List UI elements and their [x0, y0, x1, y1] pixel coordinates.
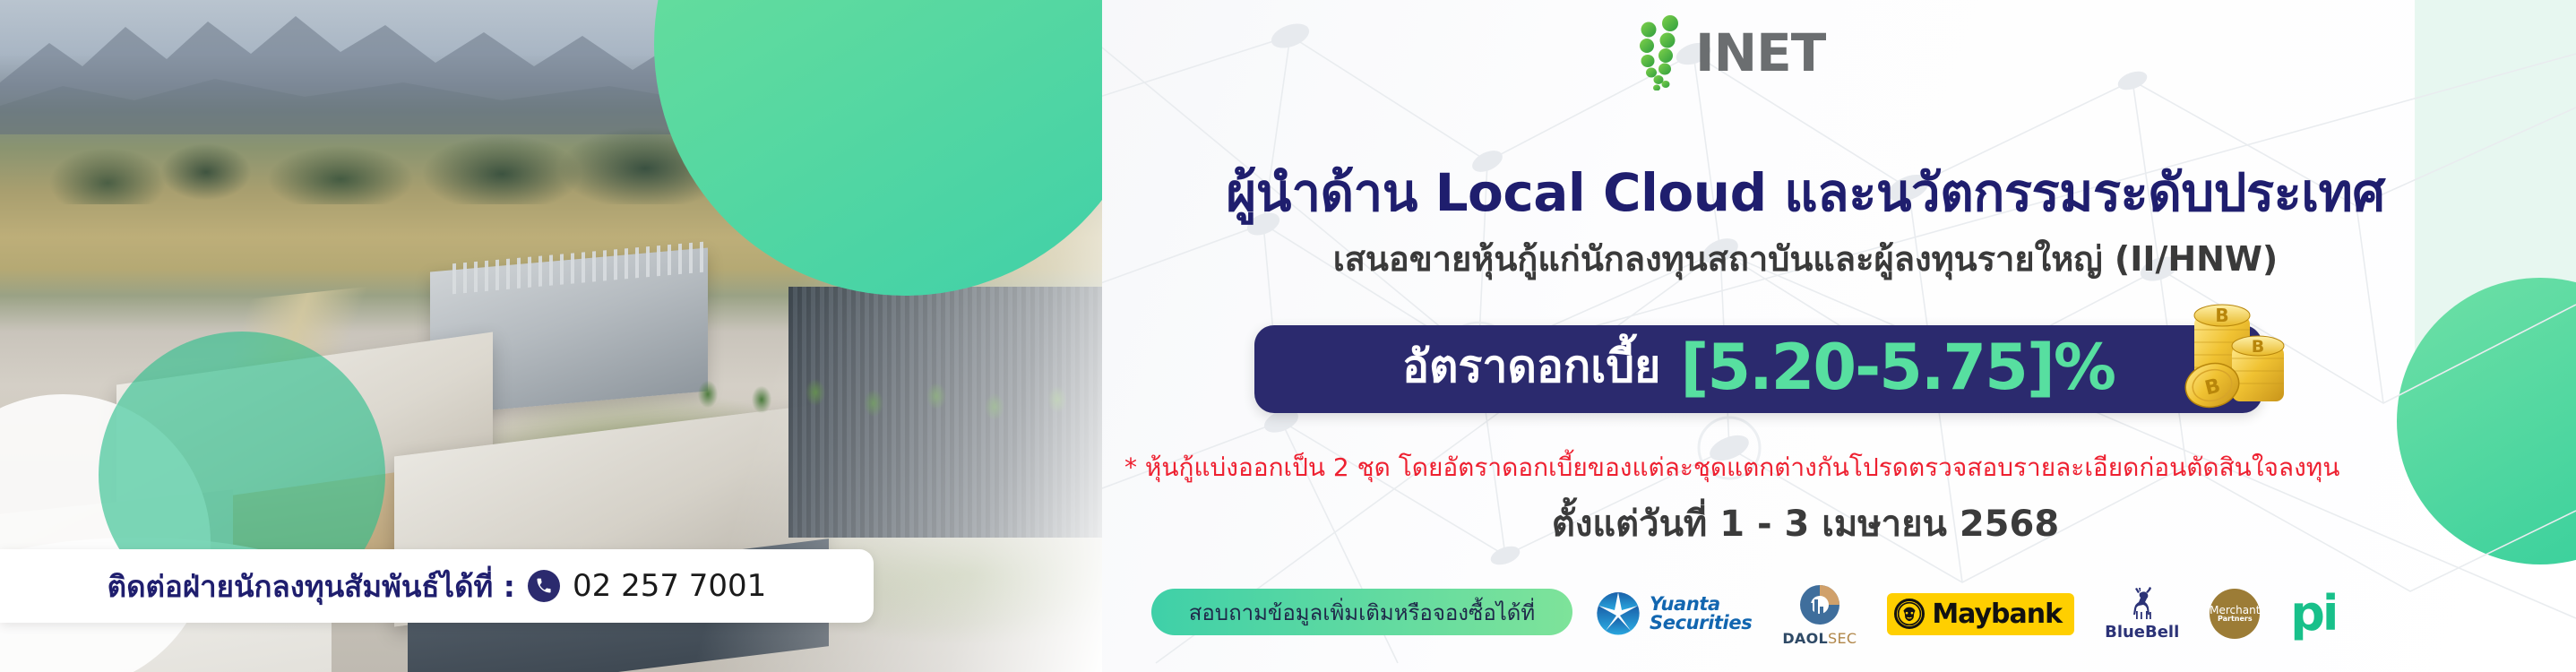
broker-maybank[interactable]: Maybank — [1887, 593, 2074, 635]
phone-icon — [528, 570, 560, 602]
merchant-line2: Partners — [2218, 616, 2253, 623]
broker-logos: Yuanta Securities DAOLSEC — [1595, 578, 2545, 650]
offering-date: ตั้งแต่วันที่ 1 - 3 เมษายน 2568 — [1165, 495, 2446, 552]
yuanta-line2: Securities — [1650, 614, 1752, 633]
page-subtitle: เสนอขายหุ้นกู้แก่นักลงทุนสถาบันและผู้ลงท… — [1165, 231, 2446, 286]
svg-text:B: B — [2215, 305, 2228, 326]
bluebell-deer-icon — [2124, 586, 2160, 622]
yuanta-star-icon — [1595, 590, 1641, 637]
broker-daolsec[interactable]: DAOLSEC — [1782, 582, 1857, 647]
yuanta-line1: Yuanta — [1650, 595, 1752, 614]
broker-merchant-partners[interactable]: Merchant Partners — [2210, 589, 2260, 639]
broker-pi[interactable]: pi — [2290, 594, 2336, 633]
pi-label: pi — [2290, 594, 2336, 633]
inet-dots-logo-icon — [1631, 15, 1690, 90]
contact-label: ติดต่อฝ่ายนักลงทุนสัมพันธ์ได้ที่ : — [108, 563, 515, 610]
maybank-tiger-icon — [1894, 599, 1925, 629]
inquiry-cta-button[interactable]: สอบถามข้อมูลเพิ่มเติมหรือจองซื้อได้ที่ — [1151, 589, 1572, 635]
interest-rate-box: อัตราดอกเบี้ย [5.20-5.75]% — [1254, 325, 2262, 413]
page-title: ผู้นำด้าน Local Cloud และนวัตกรรมระดับปร… — [1165, 151, 2446, 234]
daol-main: DAOL — [1782, 630, 1828, 647]
maybank-label: Maybank — [1932, 599, 2062, 630]
disclaimer-note: * หุ้นกู้แบ่งออกเป็น 2 ชุด โดยอัตราดอกเบ… — [1124, 448, 2558, 487]
gold-coins-icon: B B B — [2173, 303, 2307, 419]
svg-text:B: B — [2252, 337, 2264, 357]
inet-logo[interactable]: INET — [1631, 13, 1900, 93]
daol-sub: SEC — [1828, 630, 1857, 647]
broker-bluebell[interactable]: BlueBell — [2105, 586, 2179, 642]
bluebell-label: BlueBell — [2105, 623, 2179, 642]
daol-circle-icon — [1796, 582, 1843, 628]
promo-banner: INET ผู้นำด้าน Local Cloud และนวัตกรรมระ… — [0, 0, 2576, 672]
inet-logo-text: INET — [1695, 27, 1825, 79]
contact-phone-number: 02 257 7001 — [573, 568, 766, 604]
interest-rate-value: [5.20-5.75]% — [1680, 336, 2115, 402]
contact-bar: ติดต่อฝ่ายนักลงทุนสัมพันธ์ได้ที่ : 02 25… — [0, 549, 874, 623]
broker-yuanta[interactable]: Yuanta Securities — [1595, 590, 1752, 637]
interest-rate-label: อัตราดอกเบี้ย — [1402, 344, 1660, 394]
